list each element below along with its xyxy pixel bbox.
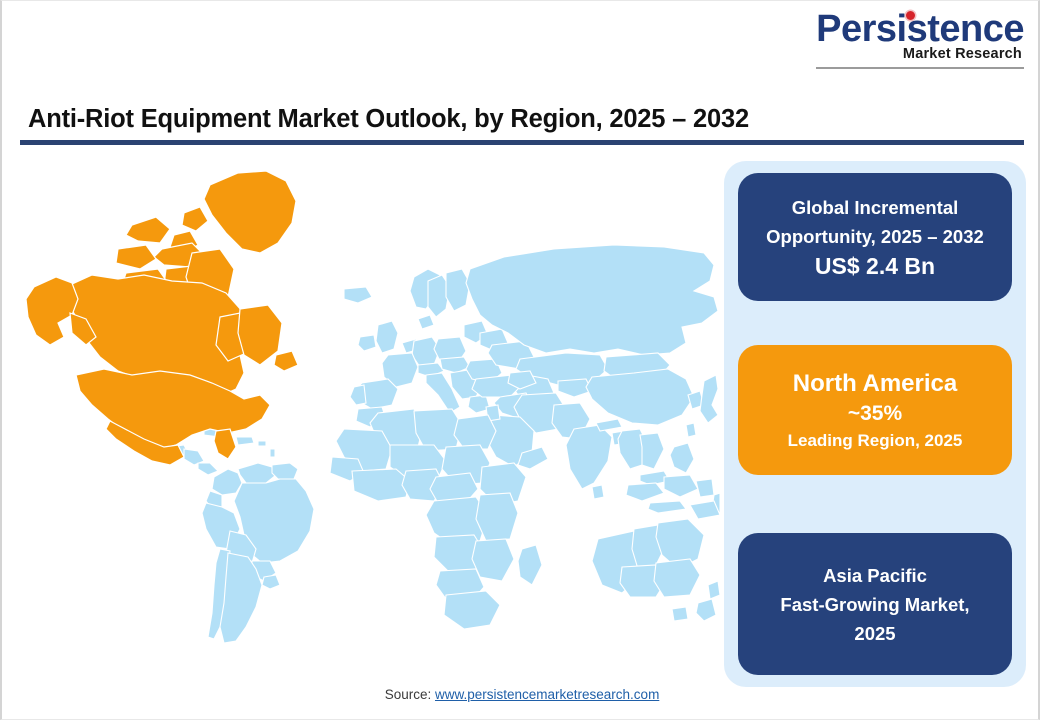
map-country-canada-arctic-3	[116, 245, 156, 269]
map-country-new-zealand-north	[708, 581, 720, 599]
map-country-india	[566, 425, 612, 489]
card-1-region: North America	[793, 367, 957, 400]
map-country-philippines	[670, 443, 694, 473]
map-country-united-kingdom	[376, 321, 398, 353]
map-country-denmark	[418, 315, 434, 329]
source-label: Source:	[385, 687, 432, 702]
source-line: Source: www.persistencemarketresearch.co…	[2, 687, 1040, 702]
card-1-caption: Leading Region, 2025	[788, 428, 963, 454]
map-country-west-africa-coast	[352, 469, 410, 501]
company-logo: Persistence Market Research	[810, 9, 1024, 67]
page-title: Anti-Riot Equipment Market Outlook, by R…	[28, 105, 749, 134]
map-country-greenland	[170, 171, 296, 253]
card-2-line-2: Fast-Growing Market,	[780, 590, 969, 619]
map-country-china	[586, 369, 694, 425]
map-country-costa-rica-panama	[198, 463, 218, 475]
map-country-uruguay	[262, 575, 280, 589]
map-highlighted-regions	[26, 171, 298, 465]
map-country-canada-arctic-1	[126, 217, 170, 243]
world-map	[14, 157, 720, 669]
title-divider	[20, 140, 1024, 145]
card-1-share: ~35%	[848, 400, 902, 428]
map-country-australia-nsw-vic	[654, 559, 700, 597]
infographic-page: Persistence Market Research Anti-Riot Eq…	[0, 0, 1040, 720]
logo-brand-text: Persistence	[816, 9, 1024, 49]
map-base-regions	[170, 245, 720, 643]
map-country-tasmania	[672, 607, 688, 621]
map-country-indonesia-borneo	[664, 475, 698, 497]
card-0-line-1: Global Incremental	[792, 193, 959, 222]
source-link[interactable]: www.persistencemarketresearch.com	[435, 687, 659, 702]
map-country-vietnam-laos-cambodia	[640, 433, 664, 469]
map-country-nepal-bhutan	[596, 419, 622, 431]
map-country-egypt	[454, 415, 496, 449]
logo-red-dot-icon	[906, 11, 915, 20]
card-0-line-2: Opportunity, 2025 – 2032	[766, 222, 984, 251]
card-leading-region: North America ~35% Leading Region, 2025	[738, 345, 1012, 475]
map-country-new-zealand-south	[696, 599, 716, 621]
map-country-south-africa	[444, 591, 500, 629]
map-country-indonesia-sumatra	[626, 483, 664, 501]
map-country-japan	[700, 375, 718, 423]
map-country-guyanas	[272, 463, 298, 479]
map-country-puerto-rico	[258, 441, 266, 446]
map-country-finland	[446, 269, 470, 311]
map-country-iceland	[344, 287, 372, 303]
world-map-svg	[14, 157, 720, 669]
card-fast-growing-market: Asia Pacific Fast-Growing Market, 2025	[738, 533, 1012, 675]
map-country-colombia	[212, 469, 242, 495]
map-country-taiwan	[686, 423, 696, 437]
card-2-line-3: 2025	[854, 619, 895, 648]
map-country-lesser-antilles	[270, 449, 275, 457]
map-country-png-east	[690, 501, 720, 519]
map-country-canada-newfoundland	[274, 351, 298, 371]
map-country-indonesia-sulawesi	[696, 479, 714, 497]
map-country-ireland	[358, 335, 376, 351]
card-global-incremental-opportunity: Global Incremental Opportunity, 2025 – 2…	[738, 173, 1012, 301]
logo-underline-divider	[816, 67, 1024, 69]
stats-panel: Global Incremental Opportunity, 2025 – 2…	[724, 161, 1026, 687]
map-country-portugal	[350, 385, 366, 405]
card-2-region: Asia Pacific	[823, 561, 927, 590]
map-country-alaska	[26, 277, 78, 345]
map-country-venezuela	[238, 463, 276, 483]
map-country-indonesia-java	[648, 501, 686, 513]
map-country-kenya-uganda-tanzania	[476, 493, 518, 541]
map-country-sri-lanka	[592, 485, 604, 499]
map-country-hispaniola	[236, 437, 254, 445]
card-0-value: US$ 2.4 Bn	[815, 251, 935, 282]
map-country-madagascar	[518, 545, 542, 585]
